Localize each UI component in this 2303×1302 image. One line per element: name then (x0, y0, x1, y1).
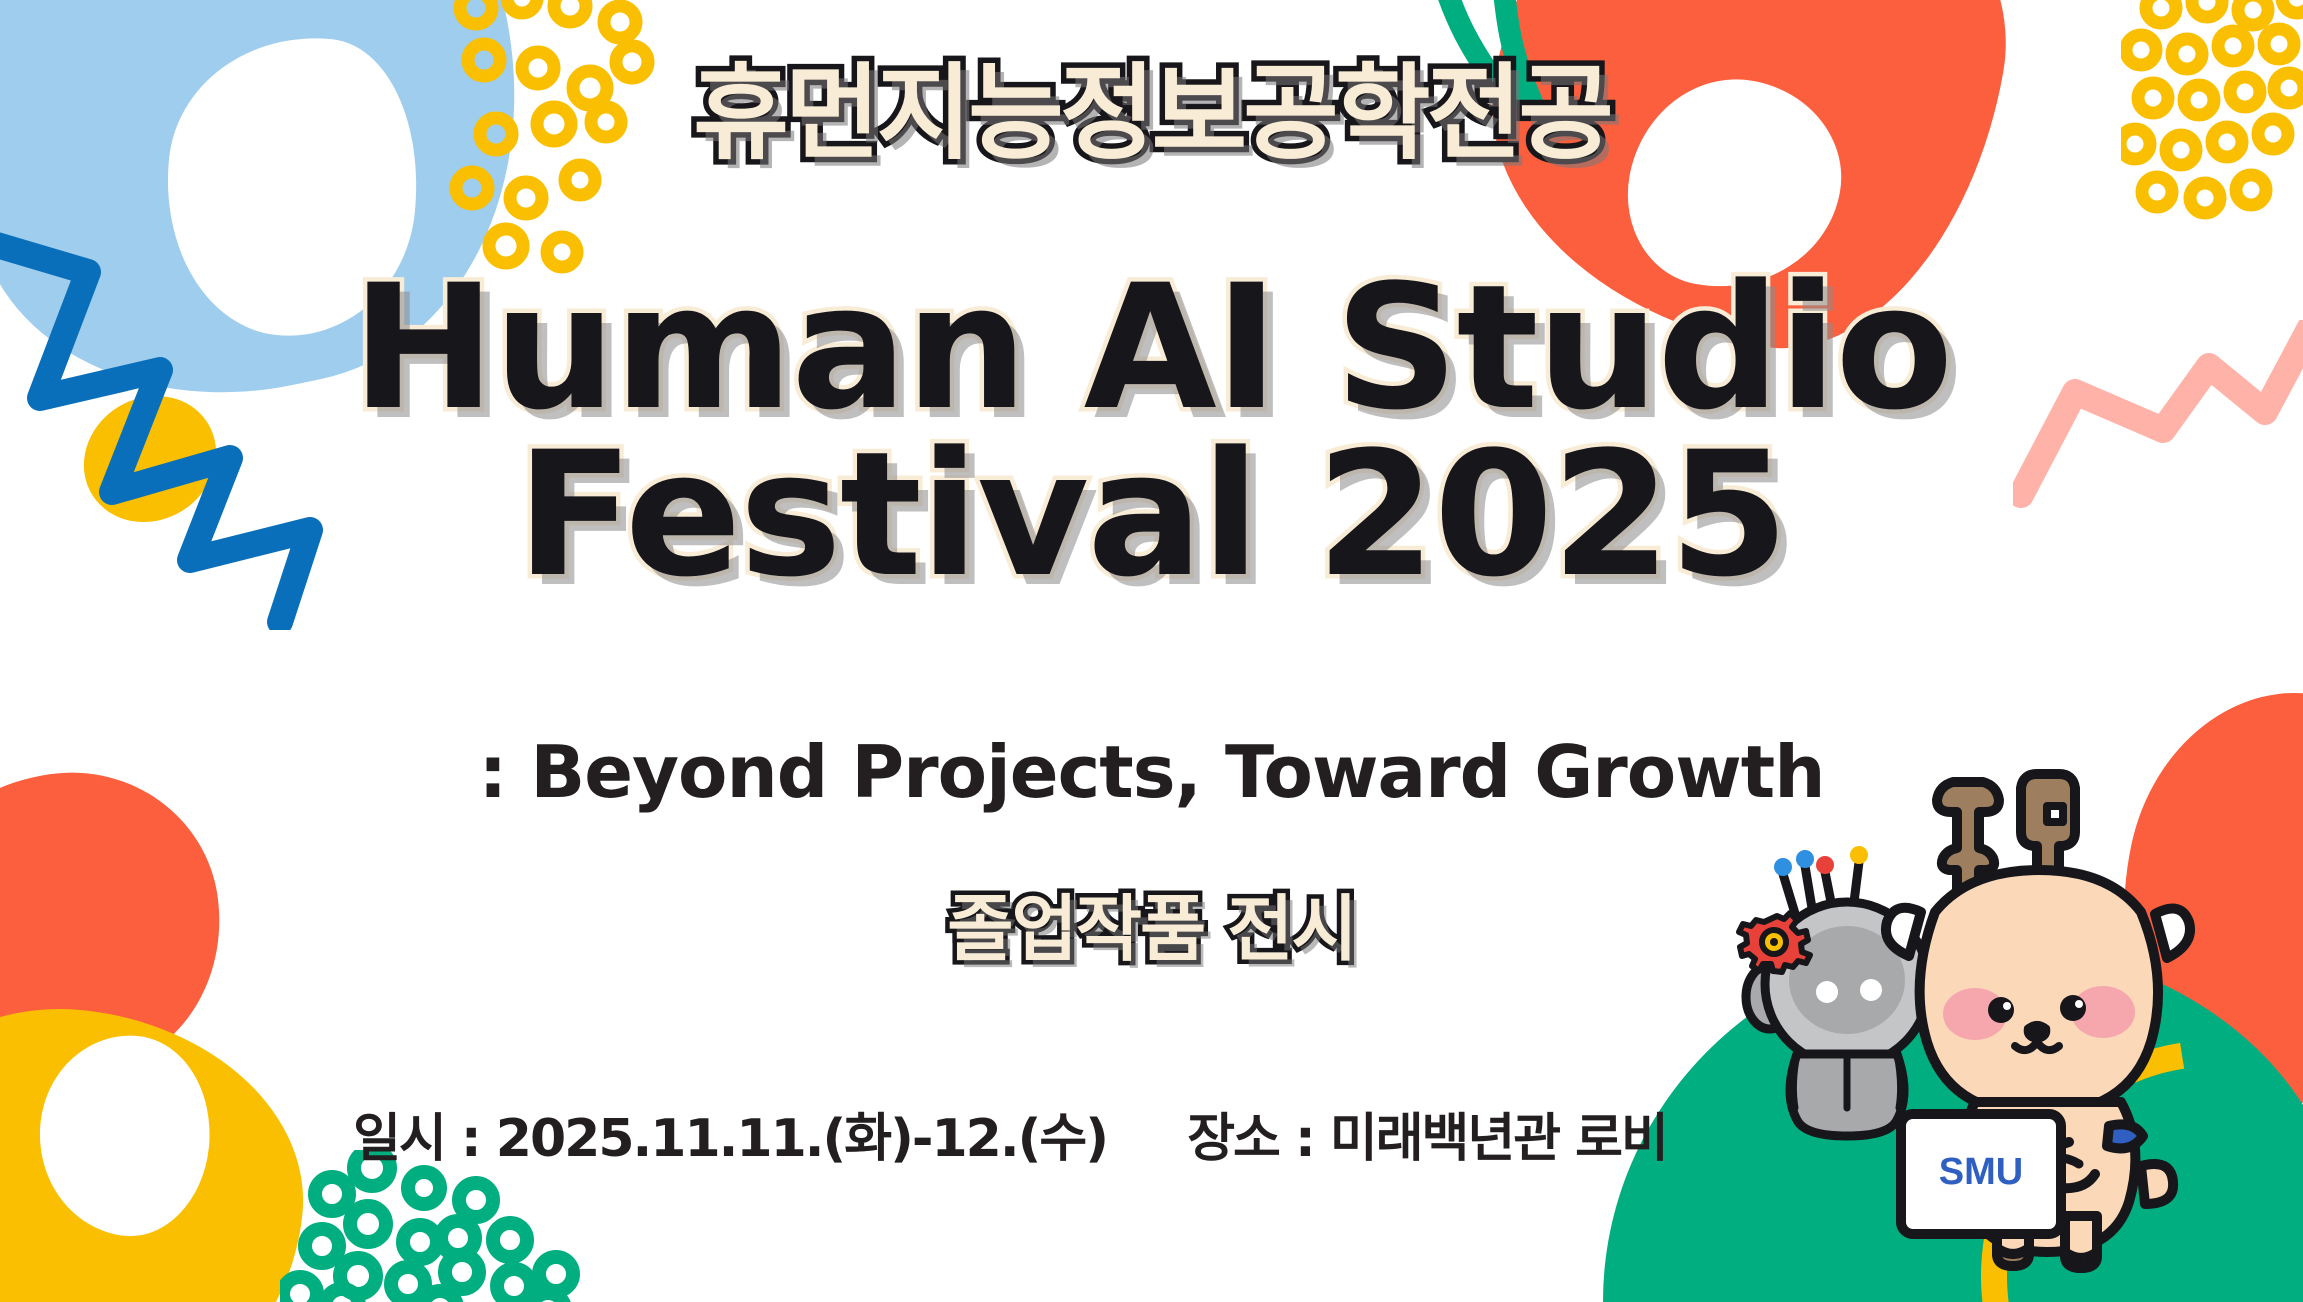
page-title-line2: Festival 2025 (0, 432, 2303, 597)
deer-mascot: SMU (1886, 774, 2190, 1268)
mascot-illustration: SMU (1725, 762, 2285, 1302)
poster-canvas: 휴먼지능정보공학전공 Human AI Studio Festival 2025… (0, 0, 2303, 1302)
event-info-line: 일시 : 2025.11.11.(화)-12.(수) 장소 : 미래백년관 로비 (300, 1096, 1720, 1171)
event-venue: 장소 : 미래백년관 로비 (1187, 1109, 1667, 1169)
page-title-line1: Human AI Studio (0, 265, 2303, 430)
smu-logo-text: SMU (1939, 1151, 2023, 1193)
department-name: 휴먼지능정보공학전공 (0, 28, 2303, 179)
gear-icon (1739, 913, 1810, 972)
event-date: 일시 : 2025.11.11.(화)-12.(수) (353, 1109, 1107, 1169)
laptop-with-smu-logo: SMU (1901, 1114, 2061, 1234)
